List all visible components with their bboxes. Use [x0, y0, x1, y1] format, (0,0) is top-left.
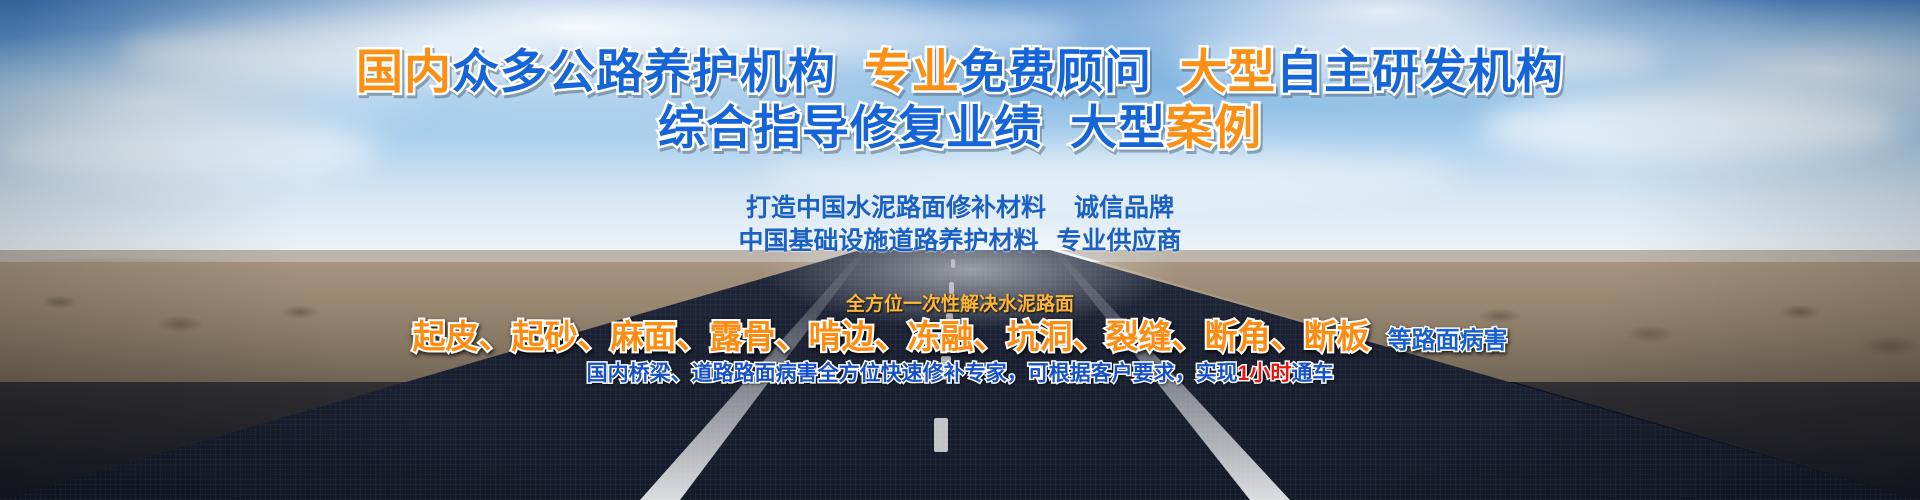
tagline-line-2: 中国基础设施道路养护材料专业供应商 — [0, 225, 1920, 258]
headline-seg-daxing: 大型 — [1180, 45, 1276, 98]
headline-seg-zhuanye: 专业 — [864, 45, 960, 98]
headline2-seg-anli: 案例 — [1166, 101, 1262, 154]
disease-list-text: 起皮、起砂、麻面、露骨、啃边、冻融、坑洞、裂缝、断角、断板 — [413, 318, 1370, 355]
disease-suffix-text: 等路面病害 — [1388, 327, 1508, 354]
headline-line-1: 国内众多公路养护机构专业免费顾问大型自主研发机构 — [0, 44, 1920, 100]
bottom-intro-text: 全方位一次性解决水泥路面 — [846, 294, 1074, 315]
headline-seg-zhongduo: 众多公路养护机构 — [452, 45, 836, 98]
disease-list-line: 起皮、起砂、麻面、露骨、啃边、冻融、坑洞、裂缝、断角、断板等路面病害 — [0, 316, 1920, 362]
bottom-last-line: 国内桥梁、道路路面病害全方位快速修补专家，可根据客户要求，实现1小时通车 — [0, 360, 1920, 388]
headline2-seg-daxing: 大型 — [1070, 101, 1166, 154]
headline-line-2: 综合指导修复业绩大型案例 — [0, 100, 1920, 156]
last-line-part-b: 通车 — [1291, 362, 1333, 385]
tagline-2b: 专业供应商 — [1057, 227, 1182, 255]
tagline-1a: 打造中国水泥路面修补材料 — [746, 194, 1046, 222]
lane-dash — [934, 418, 948, 452]
last-line-highlight: 1小时 — [1238, 362, 1292, 385]
bottom-intro: 全方位一次性解决水泥路面 — [0, 293, 1920, 317]
headline-seg-zizhu: 自主研发机构 — [1276, 45, 1564, 98]
headline-seg-mianfei: 免费顾问 — [960, 45, 1152, 98]
headline2-seg-zonghe: 综合指导修复业绩 — [658, 101, 1042, 154]
lane-dash — [951, 259, 955, 268]
promo-banner: 国内众多公路养护机构专业免费顾问大型自主研发机构 综合指导修复业绩大型案例 打造… — [0, 0, 1920, 500]
tagline-line-1: 打造中国水泥路面修补材料诚信品牌 — [0, 192, 1920, 225]
tagline-2a: 中国基础设施道路养护材料 — [738, 227, 1038, 255]
last-line-part-a: 国内桥梁、道路路面病害全方位快速修补专家，可根据客户要求，实现 — [587, 362, 1238, 385]
tagline-1b: 诚信品牌 — [1074, 194, 1174, 222]
headline-seg-guonei: 国内 — [356, 45, 452, 98]
